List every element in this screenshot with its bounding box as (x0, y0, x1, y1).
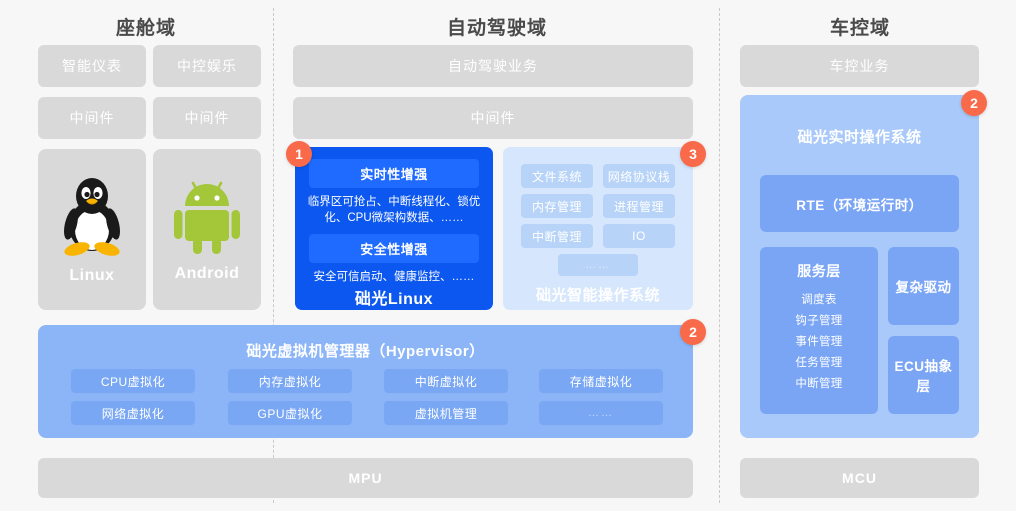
hypervisor-chip-more[interactable]: …… (539, 401, 663, 425)
chuguang-rtos-title: 础光实时操作系统 (740, 126, 979, 147)
hypervisor-title: 础光虚拟机管理器（Hypervisor） (38, 340, 693, 361)
smart-os-chip-more[interactable]: …… (558, 254, 638, 276)
service-item-interrupt-mgmt[interactable]: 中断管理 (768, 375, 870, 391)
cockpit-app-cluster[interactable]: 智能仪表 (38, 45, 146, 87)
badge-2-rtos[interactable]: 2 (961, 90, 987, 116)
badge-3[interactable]: 3 (680, 141, 706, 167)
cockpit-os-android[interactable]: Android (153, 149, 261, 310)
smart-os-chip-network-stack[interactable]: 网络协议栈 (603, 164, 675, 188)
column-title-cockpit: 座舱域 (36, 13, 256, 40)
security-enhancement-header: 安全性增强 (309, 234, 479, 263)
service-item-schedule-table[interactable]: 调度表 (790, 291, 848, 307)
column-divider-right (719, 8, 720, 503)
badge-2-hypervisor[interactable]: 2 (680, 319, 706, 345)
cockpit-os-linux[interactable]: Linux (38, 149, 146, 310)
smart-os-chip-memory-mgmt[interactable]: 内存管理 (521, 194, 593, 218)
rte-block[interactable]: RTE（环境运行时） (760, 175, 959, 232)
service-item-hook-mgmt[interactable]: 钩子管理 (790, 312, 848, 328)
hypervisor-panel[interactable]: 础光虚拟机管理器（Hypervisor） CPU虚拟化 内存虚拟化 中断虚拟化 … (38, 325, 693, 438)
service-layer-block[interactable]: 服务层 调度表 钩子管理 事件管理 任务管理 中断管理 (760, 247, 878, 414)
linux-penguin-icon (59, 174, 125, 261)
hypervisor-chip-vm-mgmt[interactable]: 虚拟机管理 (384, 401, 508, 425)
chuguang-smart-os-title: 础光智能操作系统 (503, 284, 693, 305)
smart-os-chip-filesystem[interactable]: 文件系统 (521, 164, 593, 188)
complex-driver-block[interactable]: 复杂驱动 (888, 247, 959, 325)
hypervisor-chip-cpu-virt[interactable]: CPU虚拟化 (71, 369, 195, 393)
service-layer-title: 服务层 (760, 261, 878, 281)
android-robot-icon (172, 176, 242, 259)
cockpit-middleware-2[interactable]: 中间件 (153, 97, 261, 139)
hypervisor-chip-interrupt-virt[interactable]: 中断虚拟化 (384, 369, 508, 393)
column-title-vehicle-control: 车控域 (740, 13, 980, 40)
architecture-diagram: 座舱域 自动驾驶域 车控域 智能仪表 中控娱乐 中间件 中间件 (0, 0, 1016, 511)
realtime-enhancement-body: 临界区可抢占、中断线程化、锁优化、CPU微架构数据、…… (303, 194, 485, 226)
autonomous-middleware[interactable]: 中间件 (293, 97, 693, 139)
service-item-event-mgmt[interactable]: 事件管理 (790, 333, 848, 349)
hypervisor-chip-network-virt[interactable]: 网络虚拟化 (71, 401, 195, 425)
smart-os-chip-io[interactable]: IO (603, 224, 675, 248)
android-label: Android (175, 265, 240, 283)
column-title-autonomous: 自动驾驶域 (292, 13, 702, 40)
cockpit-app-infotainment[interactable]: 中控娱乐 (153, 45, 261, 87)
autonomous-business[interactable]: 自动驾驶业务 (293, 45, 693, 87)
hardware-mpu[interactable]: MPU (38, 458, 693, 498)
realtime-enhancement-header: 实时性增强 (309, 159, 479, 188)
service-item-task-mgmt[interactable]: 任务管理 (790, 354, 848, 370)
chuguang-smart-os-panel[interactable]: 文件系统 网络协议栈 内存管理 进程管理 中断管理 IO …… 础光智能操作系统 (503, 147, 693, 310)
chuguang-linux-panel[interactable]: 实时性增强 临界区可抢占、中断线程化、锁优化、CPU微架构数据、…… 安全性增强… (295, 147, 493, 310)
linux-label: Linux (69, 267, 114, 285)
chuguang-rtos-panel[interactable]: 础光实时操作系统 RTE（环境运行时） 服务层 调度表 钩子管理 事件管理 任务… (740, 95, 979, 438)
vehicle-control-business[interactable]: 车控业务 (740, 45, 979, 87)
hardware-mcu[interactable]: MCU (740, 458, 979, 498)
ecu-abstraction-block[interactable]: ECU抽象层 (888, 336, 959, 414)
hypervisor-chip-gpu-virt[interactable]: GPU虚拟化 (228, 401, 352, 425)
badge-1[interactable]: 1 (286, 141, 312, 167)
chuguang-linux-title: 础光Linux (355, 285, 433, 309)
hypervisor-chip-memory-virt[interactable]: 内存虚拟化 (228, 369, 352, 393)
security-enhancement-body: 安全可信启动、健康监控、…… (303, 269, 485, 285)
smart-os-chip-process-mgmt[interactable]: 进程管理 (603, 194, 675, 218)
hypervisor-chip-storage-virt[interactable]: 存储虚拟化 (539, 369, 663, 393)
cockpit-middleware-1[interactable]: 中间件 (38, 97, 146, 139)
smart-os-chip-interrupt-mgmt[interactable]: 中断管理 (521, 224, 593, 248)
